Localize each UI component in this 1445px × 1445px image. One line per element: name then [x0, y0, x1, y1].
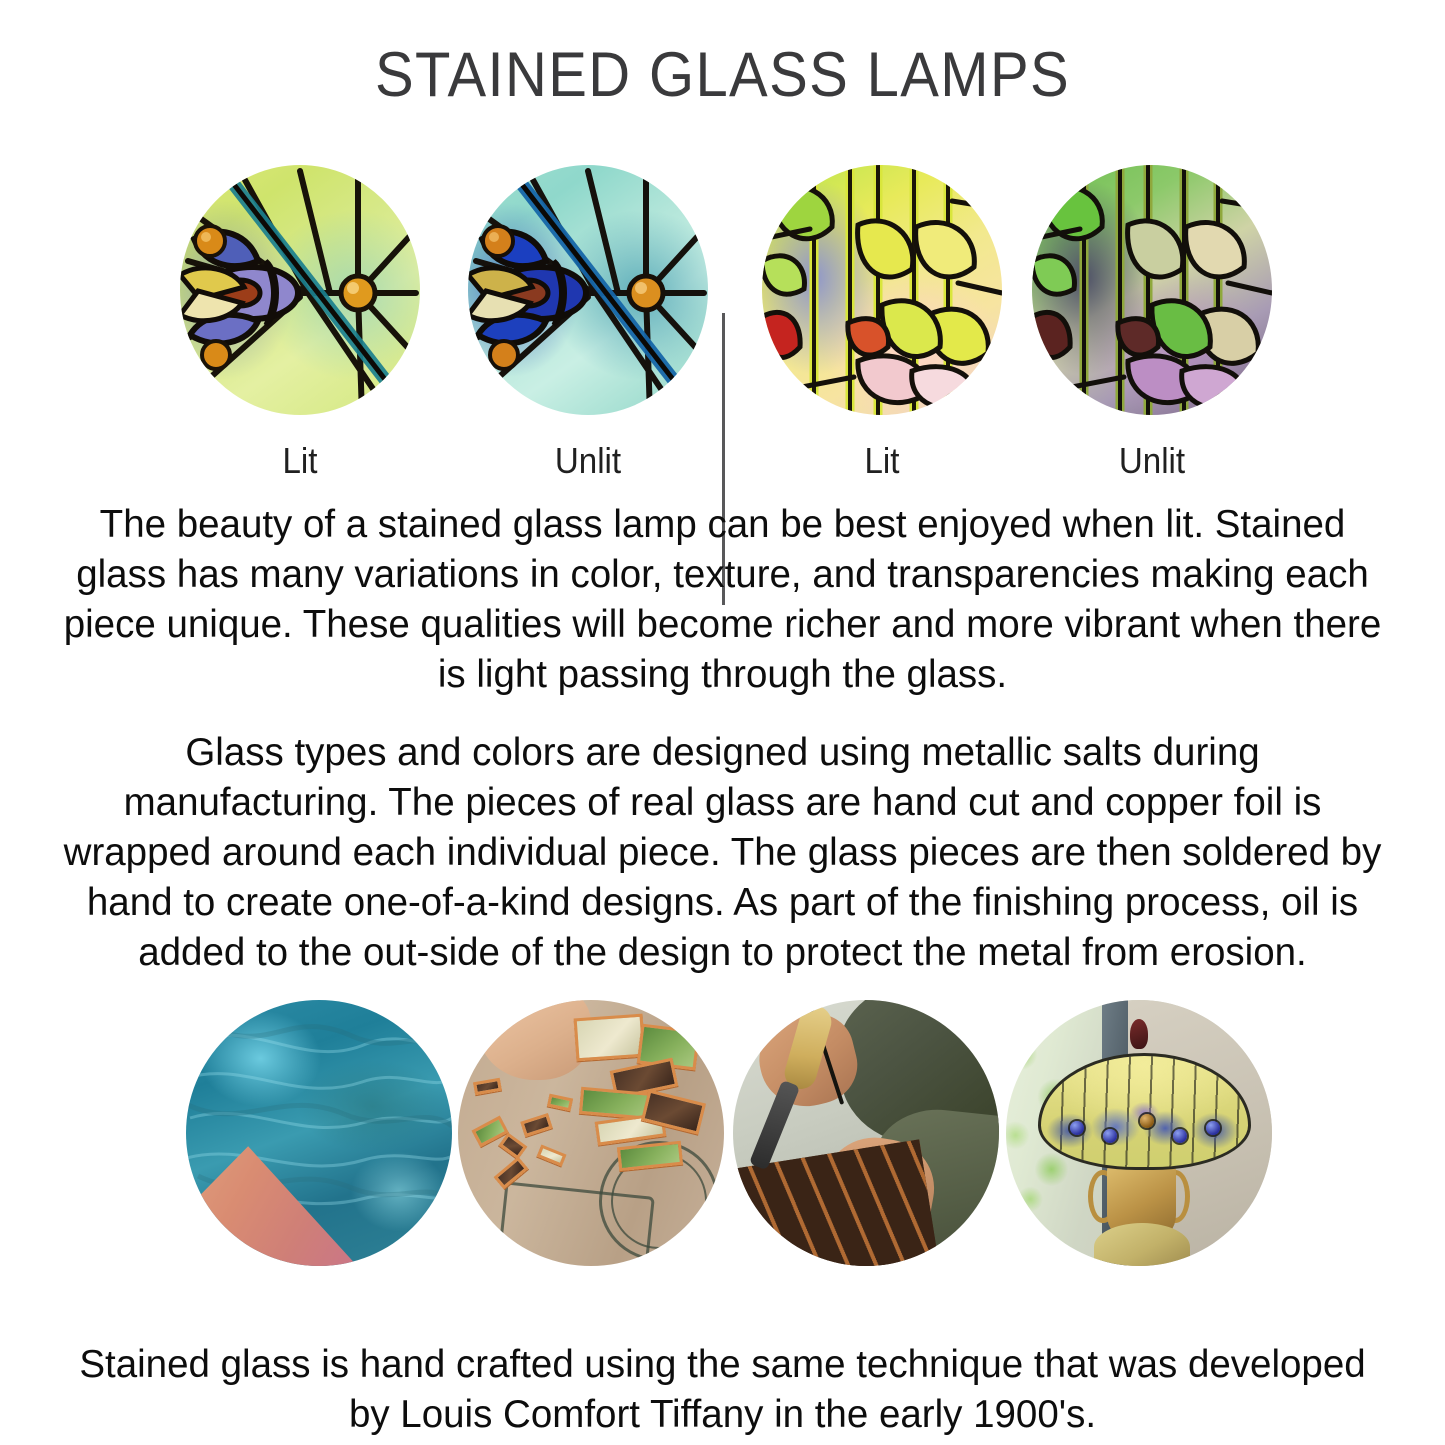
- stained-glass-floral-lit-image: [762, 165, 1002, 415]
- intro-paragraph: The beauty of a stained glass lamp can b…: [55, 500, 1390, 700]
- lead-lines-overlay: [468, 165, 708, 415]
- lit-unlit-comparison-row: [0, 165, 1445, 420]
- caption-unlit-2: Unlit: [1042, 440, 1263, 482]
- page-title: STAINED GLASS LAMPS: [58, 40, 1387, 110]
- caption-lit-1: Lit: [190, 440, 411, 482]
- stained-glass-geometric-unlit-image: [468, 165, 708, 415]
- footer-paragraph: Stained glass is hand crafted using the …: [55, 1340, 1390, 1440]
- lamp-finial: [1130, 1019, 1148, 1049]
- lamp-stained-glass-shade: [1038, 1053, 1251, 1170]
- caption-lit-2: Lit: [772, 440, 993, 482]
- process-paragraph: Glass types and colors are designed usin…: [55, 728, 1390, 978]
- iso-stamp: [497, 1182, 655, 1266]
- infographic-page: STAINED GLASS LAMPS: [0, 0, 1445, 1445]
- raw-glass-sheets-photo: [186, 1000, 452, 1266]
- foiled-glass-piece: [574, 1014, 646, 1061]
- lamp-foot: [1094, 1223, 1190, 1266]
- stained-glass-floral-unlit-image: [1032, 165, 1272, 415]
- caption-unlit-1: Unlit: [478, 440, 699, 482]
- comparison-captions: Lit Unlit Lit Unlit: [0, 440, 1445, 484]
- shade-jewel: [1206, 1121, 1220, 1135]
- process-photo-row: [0, 1000, 1445, 1268]
- soldering-photo: [733, 1000, 999, 1266]
- shade-jewel: [1140, 1114, 1154, 1128]
- stained-glass-geometric-lit-image: [180, 165, 420, 415]
- lead-lines-overlay: [762, 165, 1002, 415]
- lead-lines-overlay: [180, 165, 420, 415]
- shade-jewel: [1070, 1121, 1084, 1135]
- lead-lines-overlay: [1032, 165, 1272, 415]
- copper-foiling-photo: [458, 1000, 724, 1266]
- finished-lamp-photo: [1006, 1000, 1272, 1266]
